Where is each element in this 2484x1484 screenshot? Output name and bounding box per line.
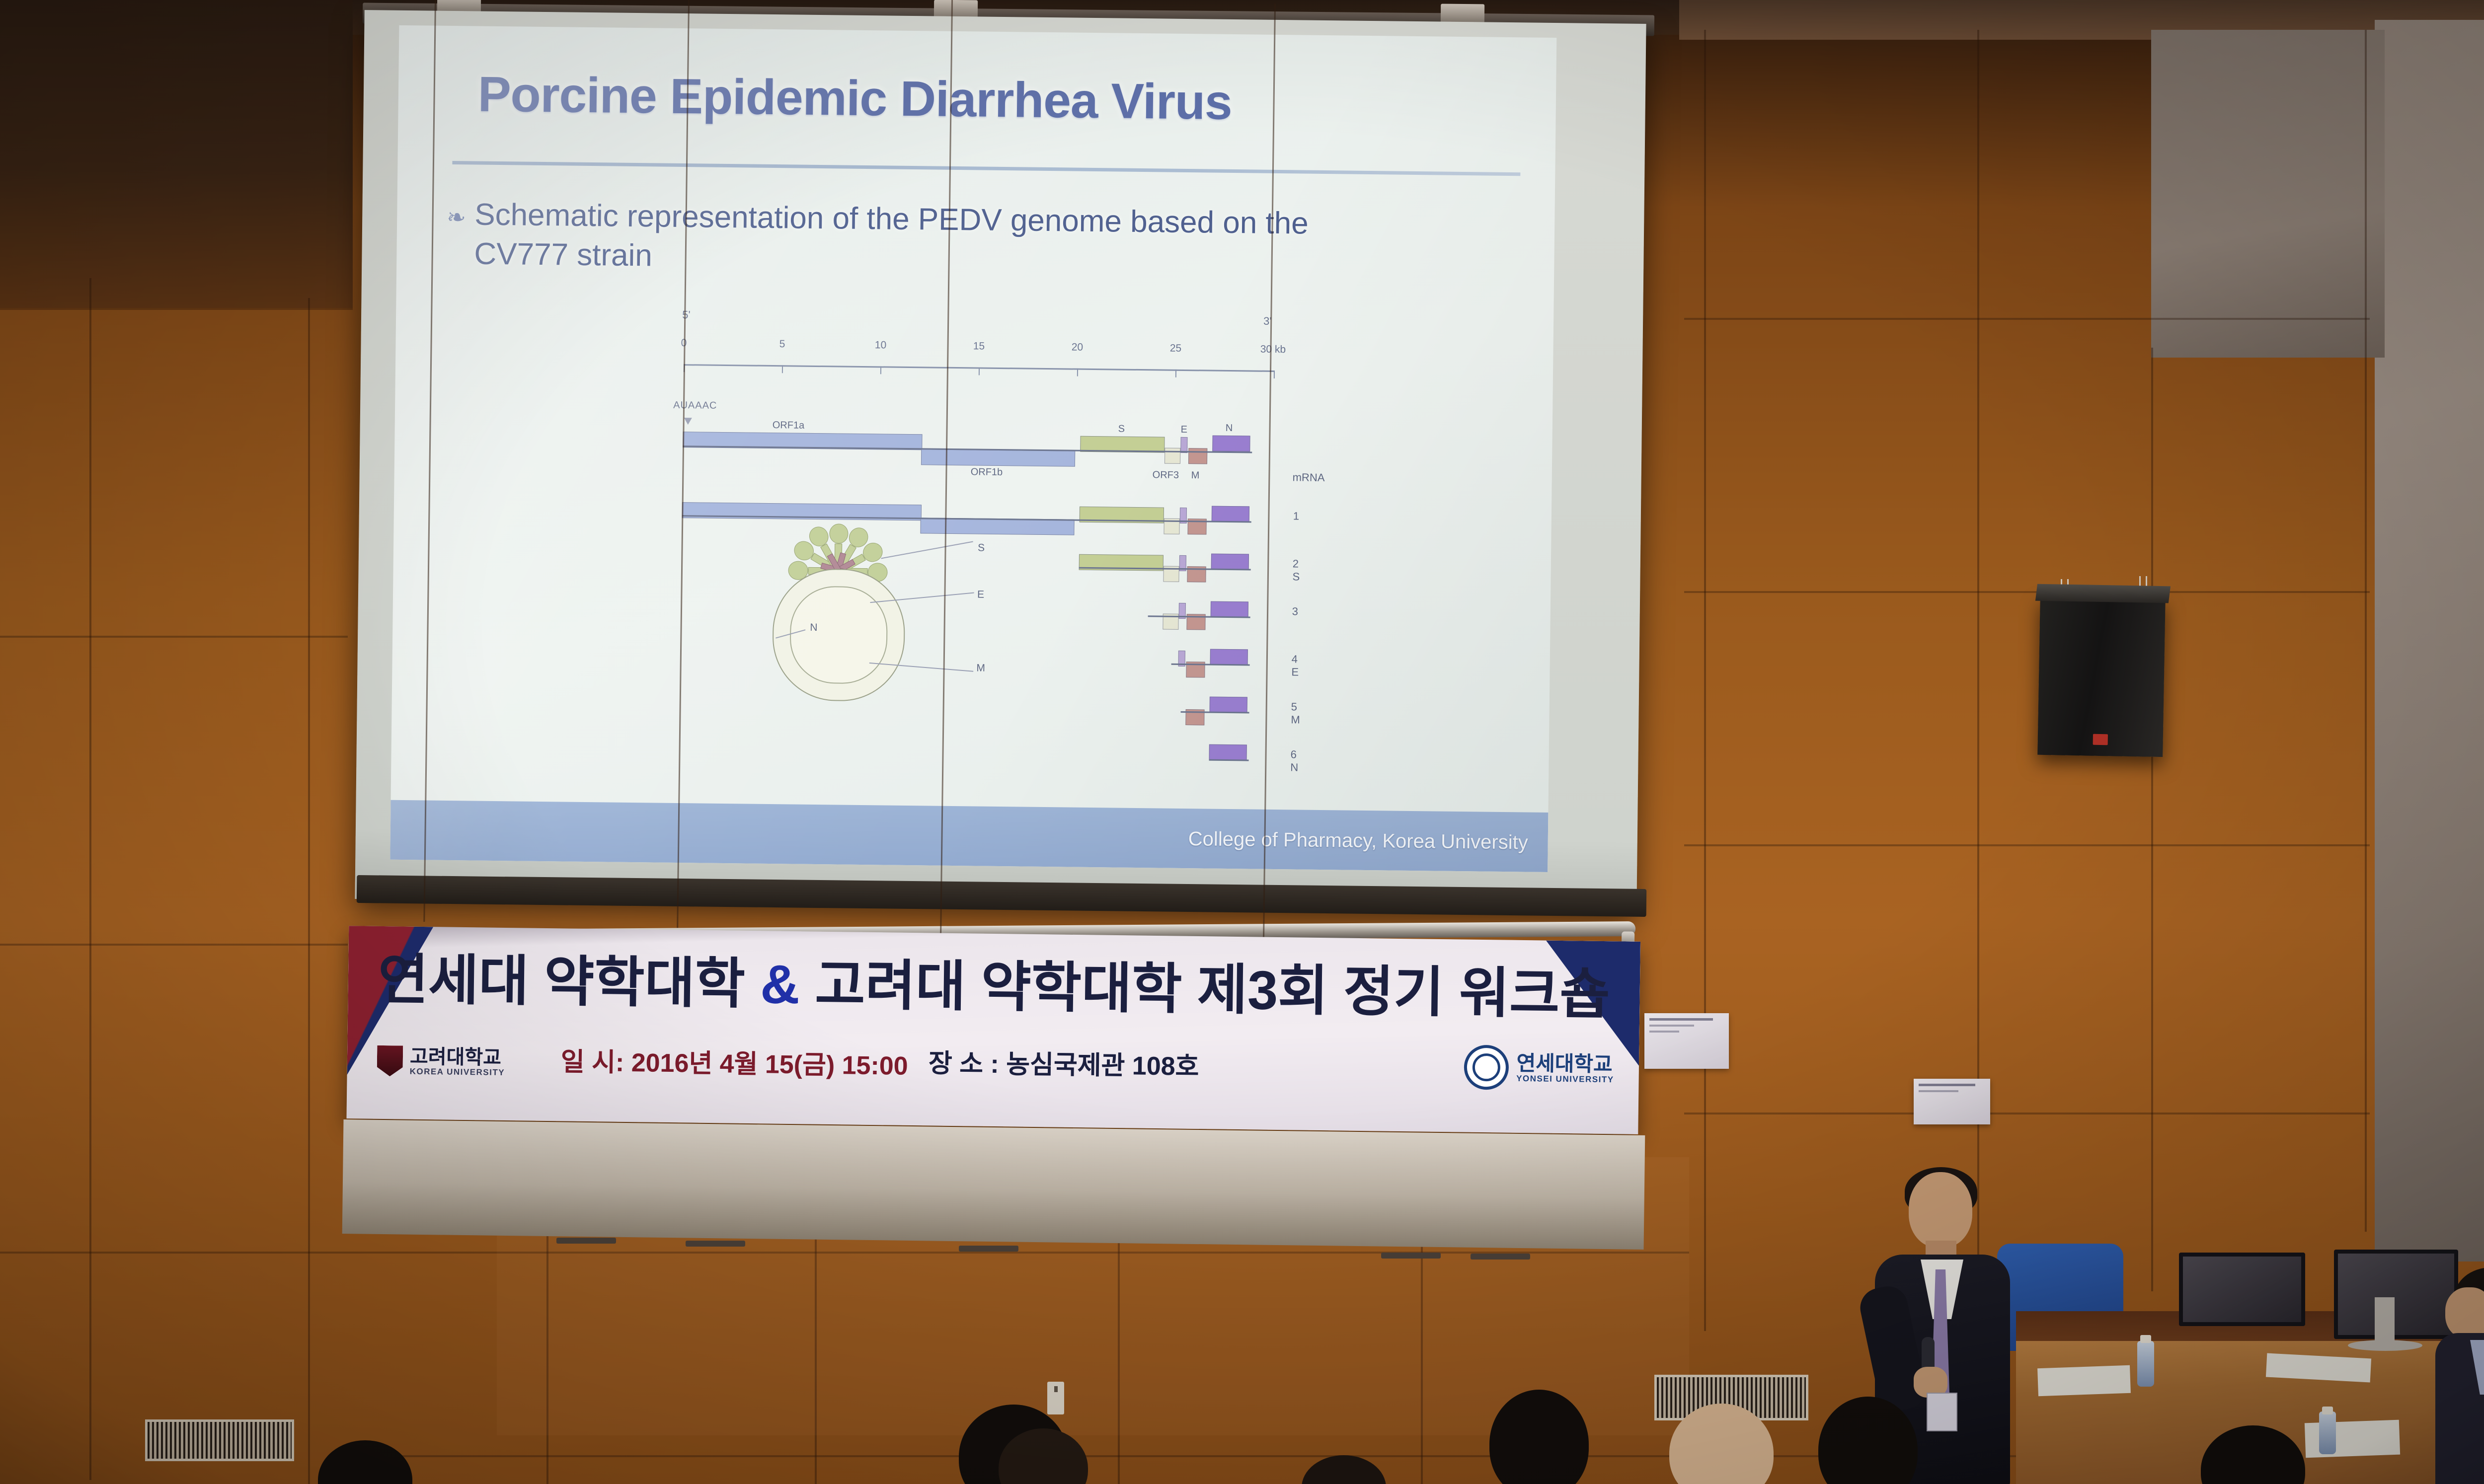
genome-5prime-label: 5' bbox=[682, 308, 691, 321]
sign-text-line bbox=[1649, 1018, 1713, 1021]
gene-n bbox=[1212, 436, 1250, 452]
mrna-row-number: 3 bbox=[1292, 605, 1299, 618]
gene-label-e: E bbox=[1181, 424, 1188, 436]
mrna-row-number: 1 bbox=[1293, 510, 1300, 522]
slide-footer-bar: College of Pharmacy, Korea University bbox=[390, 800, 1548, 872]
wall-seam bbox=[1684, 1113, 2370, 1114]
banner-place-label: 장 소 : 농심국제관 108호 bbox=[929, 1042, 1199, 1083]
korea-university-crest-icon bbox=[377, 1045, 403, 1077]
mrna-row-number: 4 E bbox=[1291, 653, 1299, 678]
axis-tick bbox=[1175, 370, 1176, 377]
wall-seam bbox=[89, 278, 91, 1480]
slide-title-divider bbox=[452, 161, 1520, 176]
wall-seam bbox=[308, 298, 310, 1484]
korea-university-logo: 고려대학교KOREA UNIVERSITY bbox=[377, 1045, 505, 1078]
ledge-clip bbox=[959, 1246, 1018, 1252]
virion-label-s: S bbox=[978, 542, 985, 554]
korea-university-name: 고려대학교KOREA UNIVERSITY bbox=[410, 1046, 505, 1077]
axis-tick bbox=[782, 365, 783, 373]
wall-seam bbox=[0, 944, 348, 946]
virion-label-m: M bbox=[976, 663, 985, 674]
desk-paper bbox=[2037, 1365, 2131, 1396]
wall-left-shadow bbox=[0, 0, 353, 308]
gene-orf3 bbox=[1164, 448, 1180, 464]
wall-air-vent bbox=[145, 1419, 294, 1461]
bottle-cap bbox=[2322, 1407, 2333, 1414]
gene-n bbox=[1212, 506, 1249, 522]
projection-screen: Porcine Epidemic Diarrhea Virus ❧ Schema… bbox=[355, 10, 1646, 913]
yonsei-university-logo: 연세대학교YONSEI UNIVERSITY bbox=[1464, 1045, 1615, 1092]
gene-label-orf1b: ORF1b bbox=[971, 466, 1003, 478]
banner-title-ampersand: & bbox=[760, 954, 800, 1015]
bottle-cap bbox=[2140, 1335, 2151, 1343]
wall-upper-right-concrete bbox=[2151, 30, 2385, 358]
gene-m bbox=[1188, 448, 1207, 464]
gene-label-n: N bbox=[1226, 423, 1233, 434]
water-bottle bbox=[2319, 1411, 2336, 1454]
axis-tick-label: 10 bbox=[875, 339, 887, 351]
water-bottle bbox=[2137, 1341, 2154, 1387]
wall-seam bbox=[0, 636, 348, 638]
slide-footer-text: College of Pharmacy, Korea University bbox=[1188, 828, 1528, 854]
nucleocapsid-core bbox=[789, 586, 888, 684]
gene-label-orf1a: ORF1a bbox=[773, 420, 805, 432]
presenter-head bbox=[1909, 1172, 1972, 1248]
gene-orf1b bbox=[921, 449, 1075, 466]
event-banner: 연세대 약학대학 & 고려대 약학대학 제3회 정기 워크숍 고려대학교KORE… bbox=[346, 905, 1640, 1134]
desk-monitor-secondary bbox=[2179, 1253, 2305, 1326]
axis-tick-label: 25 bbox=[1170, 343, 1182, 355]
speaker-top-face bbox=[2035, 584, 2171, 603]
monitor-stand-base bbox=[2348, 1340, 2422, 1351]
wall-seam bbox=[1977, 30, 1979, 1321]
axis-tick bbox=[979, 368, 980, 375]
sign-text-line bbox=[1919, 1090, 1958, 1092]
presentation-slide: Porcine Epidemic Diarrhea Virus ❧ Schema… bbox=[390, 25, 1556, 872]
wall-notice-sign bbox=[1644, 1013, 1729, 1069]
mrna-backbone bbox=[1209, 759, 1249, 761]
banner-title-part2: 고려대 약학대학 제3회 정기 워크숍 bbox=[799, 954, 1610, 1025]
trs-sequence-label: AUAAAC bbox=[673, 400, 717, 412]
korea-university-name-en: KOREA UNIVERSITY bbox=[410, 1067, 505, 1077]
axis-tick-label: 15 bbox=[973, 340, 985, 352]
presenter-name-badge bbox=[1927, 1393, 1957, 1431]
slide-title: Porcine Epidemic Diarrhea Virus bbox=[477, 66, 1491, 134]
screen-bracket bbox=[1441, 4, 1484, 24]
axis-tick bbox=[1274, 371, 1275, 378]
ledge-clip bbox=[1471, 1254, 1530, 1260]
gene-n bbox=[1210, 649, 1248, 666]
trs-arrow-icon bbox=[684, 418, 692, 425]
mrna-column-header: mRNA bbox=[1293, 471, 1325, 484]
wall-seam bbox=[1684, 591, 2370, 593]
axis-tick-label: 5 bbox=[779, 338, 785, 350]
sign-text-line bbox=[1919, 1084, 1975, 1086]
yonsei-university-seal-icon bbox=[1464, 1045, 1509, 1090]
virion-label-e: E bbox=[977, 589, 984, 601]
wall-seam bbox=[0, 308, 353, 310]
wall-seam bbox=[1704, 30, 1706, 1331]
genome-full-row: ORF1a ORF1b S ORF3 E M N bbox=[673, 432, 1279, 453]
pedv-virion-diagram: S E M N bbox=[719, 516, 955, 751]
ledge-clip bbox=[556, 1238, 616, 1244]
gene-n bbox=[1211, 554, 1249, 570]
wall-seam bbox=[2365, 30, 2367, 1232]
gene-label-m: M bbox=[1191, 470, 1200, 481]
pedv-genome-figure: 5' 3' 0 5 10 15 20 25 30 kb bbox=[670, 306, 1380, 731]
banner-title: 연세대 약학대학 & 고려대 약학대학 제3회 정기 워크숍 bbox=[378, 953, 1610, 1022]
projection-screen-assembly: Porcine Epidemic Diarrhea Virus ❧ Schema… bbox=[348, 0, 1669, 924]
sign-text-line bbox=[1649, 1025, 1694, 1027]
banner-title-part1: 연세대 약학대학 bbox=[378, 949, 761, 1015]
yonsei-university-name: 연세대학교YONSEI UNIVERSITY bbox=[1516, 1052, 1614, 1084]
seated-attendee bbox=[2428, 1267, 2484, 1484]
gene-label-s: S bbox=[1118, 424, 1125, 435]
monitor-screen bbox=[2183, 1257, 2301, 1322]
gene-label-orf3: ORF3 bbox=[1153, 469, 1179, 481]
axis-tick-label: 30 kb bbox=[1260, 344, 1286, 356]
gene-n bbox=[1211, 601, 1248, 618]
bullet-marker-icon: ❧ bbox=[447, 206, 471, 230]
lecture-hall-photo: Porcine Epidemic Diarrhea Virus ❧ Schema… bbox=[0, 0, 2484, 1484]
attendee-face bbox=[2445, 1287, 2484, 1339]
banner-date-label: 일 시: 2016년 4월 15(금) 15:00 bbox=[561, 1040, 909, 1082]
monitor-stand bbox=[2375, 1297, 2395, 1346]
stage-front-ledge bbox=[342, 1119, 1645, 1250]
wall-seam bbox=[2151, 348, 2153, 1291]
virion-label-n: N bbox=[810, 622, 817, 634]
mrna-row-number: 2 S bbox=[1292, 557, 1300, 583]
wall-room-plate bbox=[1914, 1079, 1990, 1124]
axis-tick-label: 20 bbox=[1072, 342, 1084, 354]
mrna-row-number: 6 N bbox=[1290, 748, 1298, 774]
wall-seam bbox=[1684, 844, 2370, 846]
axis-tick bbox=[1077, 369, 1078, 376]
gene-n bbox=[1210, 697, 1247, 713]
ledge-clip bbox=[686, 1241, 745, 1247]
mrna-row-number: 5 M bbox=[1291, 700, 1300, 726]
gene-n bbox=[1209, 744, 1247, 761]
wall-speaker bbox=[2037, 597, 2166, 757]
wall-seam bbox=[1684, 318, 2370, 320]
yonsei-university-name-en: YONSEI UNIVERSITY bbox=[1516, 1074, 1614, 1084]
slide-bullet-block: ❧ Schematic representation of the PEDV g… bbox=[446, 195, 1515, 285]
wall-power-outlet bbox=[1047, 1382, 1064, 1414]
speaker-brand-badge-icon bbox=[2093, 734, 2108, 745]
wall-right-concrete bbox=[2375, 20, 2484, 1261]
sign-text-line bbox=[1649, 1031, 1679, 1033]
ledge-clip bbox=[1381, 1253, 1441, 1259]
axis-tick bbox=[880, 366, 881, 374]
